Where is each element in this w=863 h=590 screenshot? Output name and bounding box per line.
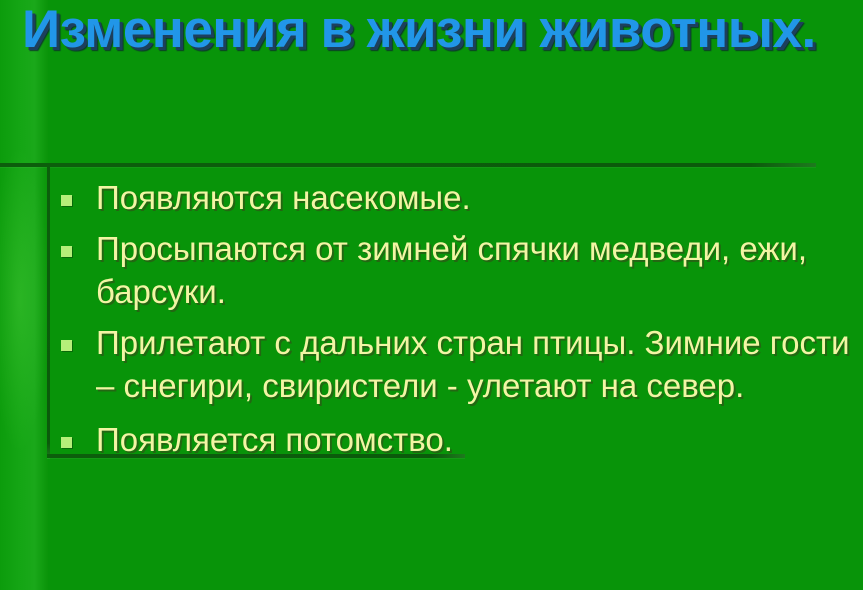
list-item: Просыпаются от зимней спячки медведи, еж…	[57, 227, 857, 314]
divider-rule-left	[47, 163, 50, 458]
list-item-text: Появляются насекомые.	[96, 176, 857, 220]
list-item: Прилетают с дальних стран птицы. Зимние …	[57, 321, 857, 408]
slide-title: Изменения в жизни животных.	[22, 2, 842, 57]
slide-body-list: Появляются насекомые. Просыпаются от зим…	[57, 176, 857, 468]
left-accent-glow	[0, 150, 48, 450]
list-item: Появляются насекомые.	[57, 176, 857, 220]
presentation-slide: Изменения в жизни животных. Появляются н…	[0, 0, 863, 590]
divider-rule-top	[0, 163, 816, 167]
square-bullet-icon	[61, 195, 72, 206]
square-bullet-icon	[61, 340, 72, 351]
square-bullet-icon	[61, 246, 72, 257]
list-item: Появляется потомство.	[57, 418, 857, 462]
list-item-text: Появляется потомство.	[96, 418, 857, 462]
square-bullet-icon	[61, 437, 72, 448]
list-item-text: Прилетают с дальних стран птицы. Зимние …	[96, 321, 857, 408]
list-item-text: Просыпаются от зимней спячки медведи, еж…	[96, 227, 857, 314]
